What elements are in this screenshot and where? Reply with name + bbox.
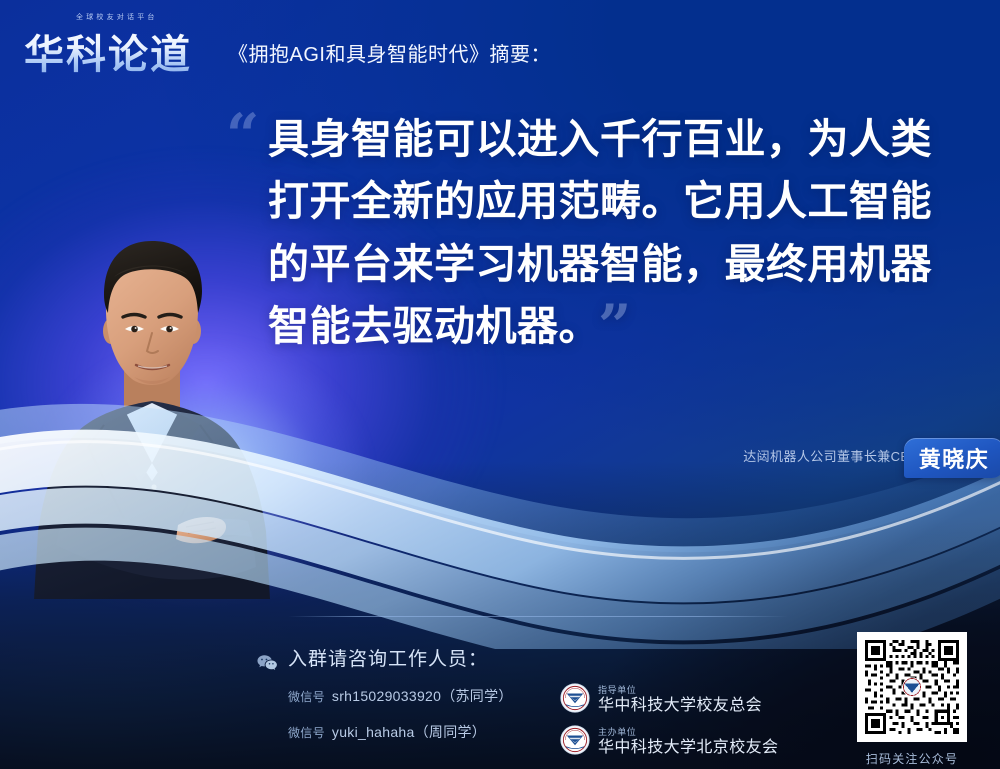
logo-tagline: 全球校友对话平台 [76, 12, 158, 22]
speaker-name-badge: 黄晓庆 [904, 438, 1000, 478]
organization-text: 主办单位 华中科技大学北京校友会 [598, 728, 778, 756]
footer-divider [288, 616, 788, 617]
wechat-label: 微信号 [288, 726, 325, 740]
wechat-id: yuki_hahaha（周同学） [332, 724, 486, 740]
wechat-contact-row: 微信号srh15029033920（苏同学） [288, 686, 513, 706]
logo-wordmark: 华科论道 [24, 22, 192, 80]
speaker-portrait [28, 219, 276, 599]
qr-code[interactable] [857, 632, 967, 742]
wechat-label: 微信号 [288, 690, 325, 704]
speaker-name: 黄晓庆 [919, 442, 990, 474]
organizations: 指导单位 华中科技大学校友总会 主办单位 华中科技大学北京校友会 [560, 676, 778, 760]
brand-logo: 全球校友对话平台 华科论道 [24, 12, 220, 72]
quote-block: “ 具身智能可以进入千行百业，为人类打开全新的应用范畴。它用人工智能的平台来学习… [268, 108, 958, 357]
organization-name: 华中科技大学校友总会 [598, 698, 762, 714]
qr-caption: 扫码关注公众号 [852, 750, 972, 767]
contact-title: 入群请咨询工作人员： [288, 644, 488, 671]
organization-kind: 主办单位 [598, 728, 778, 737]
university-seal-icon [560, 683, 590, 713]
wechat-id: srh15029033920（苏同学） [332, 688, 513, 704]
portrait-illustration [28, 219, 276, 599]
header: 全球校友对话平台 华科论道 《拥抱AGI和具身智能时代》摘要： [0, 0, 1000, 92]
university-seal-icon [560, 725, 590, 755]
qr-block: 扫码关注公众号 [852, 632, 972, 767]
quote-open-mark: “ [226, 106, 259, 164]
wechat-icon [256, 654, 278, 672]
organization-text: 指导单位 华中科技大学校友总会 [598, 686, 762, 714]
speaker-role: 达闼机器人公司董事长兼CEO [743, 446, 920, 465]
page-title: 《拥抱AGI和具身智能时代》摘要： [228, 38, 551, 67]
wechat-contact-row: 微信号yuki_hahaha（周同学） [288, 722, 486, 742]
organization-item: 指导单位 华中科技大学校友总会 [560, 676, 778, 714]
quote-text: 具身智能可以进入千行百业，为人类打开全新的应用范畴。它用人工智能的平台来学习机器… [268, 108, 958, 357]
organization-item: 主办单位 华中科技大学北京校友会 [560, 718, 778, 756]
attribution: 达闼机器人公司董事长兼CEO [743, 446, 920, 465]
poster-root: 全球校友对话平台 华科论道 《拥抱AGI和具身智能时代》摘要： [0, 0, 1000, 769]
footer: 入群请咨询工作人员： 微信号srh15029033920（苏同学） 微信号yuk… [0, 614, 1000, 769]
organization-name: 华中科技大学北京校友会 [598, 740, 778, 756]
organization-kind: 指导单位 [598, 686, 762, 695]
